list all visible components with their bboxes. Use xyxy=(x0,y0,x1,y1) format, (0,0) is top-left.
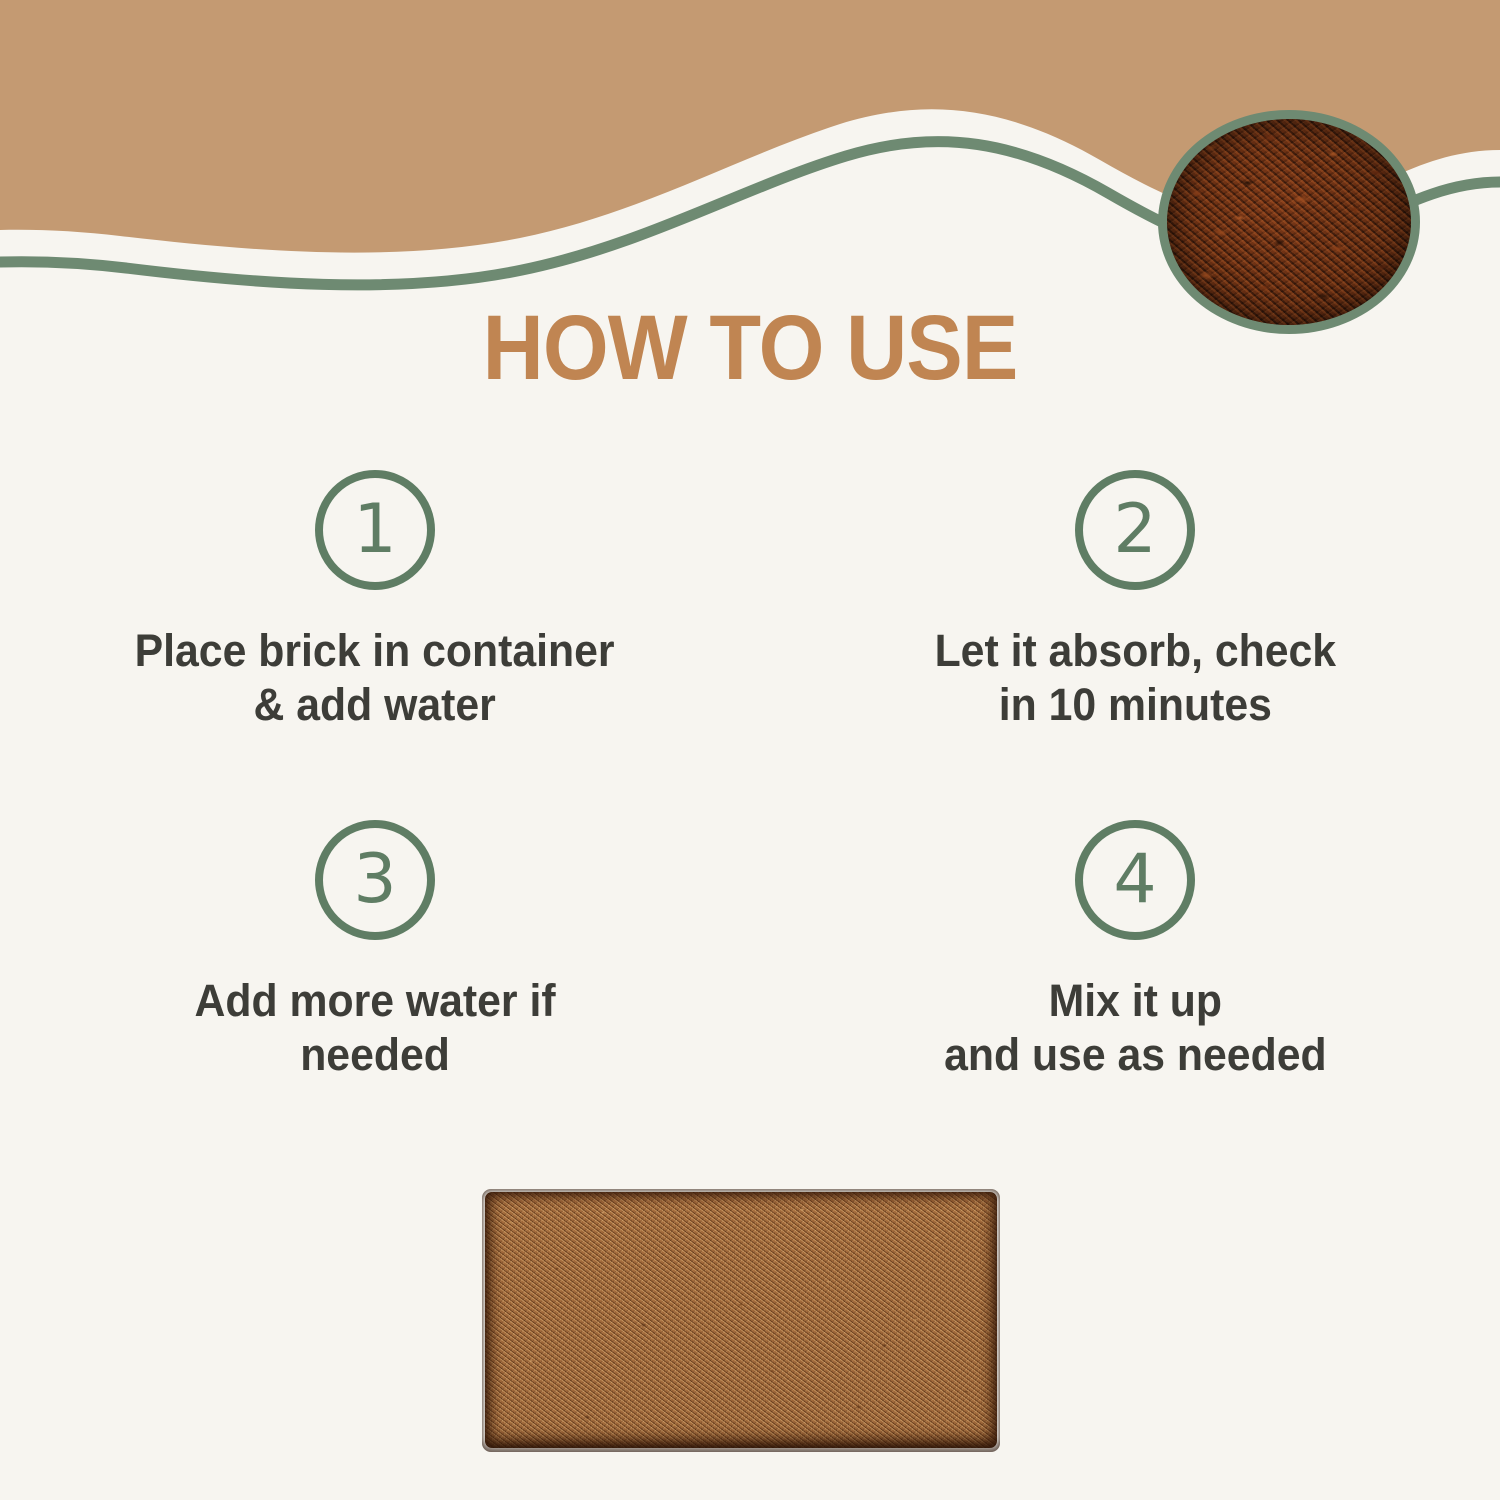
step-1: 1 Place brick in container & add water xyxy=(0,470,750,820)
step-1-text: Place brick in container & add water xyxy=(135,624,615,733)
step-3-badge: 3 xyxy=(315,820,435,940)
step-3-number: 3 xyxy=(353,846,396,914)
step-3: 3 Add more water if needed xyxy=(0,820,750,1170)
step-4-badge: 4 xyxy=(1075,820,1195,940)
step-3-text: Add more water if needed xyxy=(194,974,555,1083)
step-2-text: Let it absorb, check in 10 minutes xyxy=(934,624,1335,733)
step-1-badge: 1 xyxy=(315,470,435,590)
page-title: HOW TO USE xyxy=(60,296,1440,401)
step-2-badge: 2 xyxy=(1075,470,1195,590)
step-4-number: 4 xyxy=(1113,846,1156,914)
steps-grid: 1 Place brick in container & add water 2… xyxy=(0,470,1500,1170)
how-to-use-infographic: HOW TO USE 1 Place brick in container & … xyxy=(0,0,1500,1500)
coir-texture xyxy=(1167,119,1411,325)
step-4-text: Mix it up and use as needed xyxy=(944,974,1327,1083)
step-4: 4 Mix it up and use as needed xyxy=(750,820,1500,1170)
step-2: 2 Let it absorb, check in 10 minutes xyxy=(750,470,1500,820)
coco-coir-brick-image xyxy=(485,1192,997,1448)
step-2-number: 2 xyxy=(1113,496,1156,564)
step-1-number: 1 xyxy=(353,496,396,564)
